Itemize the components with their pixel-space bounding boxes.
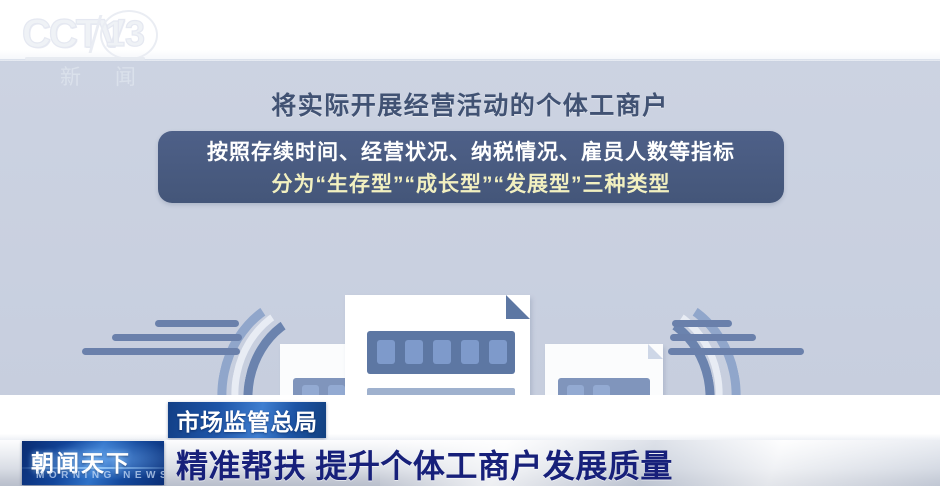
- page-fold-icon: [506, 295, 530, 319]
- doc-square: [489, 340, 507, 364]
- cctv-logo-number: 13: [105, 13, 145, 55]
- doc-square: [461, 340, 479, 364]
- doc-square: [377, 340, 395, 364]
- callout-line-1: 按照存续时间、经营状况、纳税情况、雇员人数等指标: [158, 136, 784, 169]
- doc-square: [433, 340, 451, 364]
- left-speedline-3: [82, 348, 240, 355]
- program-logo: 朝闻天下 MORNING NEWS: [22, 441, 164, 485]
- graphic-heading: 将实际开展经营活动的个体工商户: [0, 86, 940, 122]
- right-speedline-3: [668, 348, 804, 355]
- cctv-13-logo: CCTV 13 新 闻: [22, 12, 154, 86]
- page-fold-icon: [648, 344, 663, 359]
- headline-text: 精准帮扶 提升个体工商户发展质量: [176, 441, 673, 486]
- left-speedline-2: [112, 334, 242, 341]
- cctv-logo-underline: [25, 57, 145, 60]
- agency-banner-label: 市场监管总局: [177, 403, 318, 437]
- doc-square: [405, 340, 423, 364]
- callout-line-2: 分为“生存型”“成长型”“发展型”三种类型: [158, 169, 784, 200]
- program-logo-english: MORNING NEWS: [36, 470, 164, 481]
- callout-box: 按照存续时间、经营状况、纳税情况、雇员人数等指标 分为“生存型”“成长型”“发展…: [158, 131, 784, 203]
- right-speedline-1: [672, 320, 732, 327]
- lower-white-band: [0, 395, 940, 440]
- agency-banner: 市场监管总局: [168, 402, 326, 438]
- left-speedline-1: [155, 320, 239, 327]
- broadcast-screen: CCTV 13 新 闻 将实际开展经营活动的个体工商户 按照存续时间、经营状况、…: [0, 0, 940, 486]
- right-speedline-2: [670, 334, 756, 341]
